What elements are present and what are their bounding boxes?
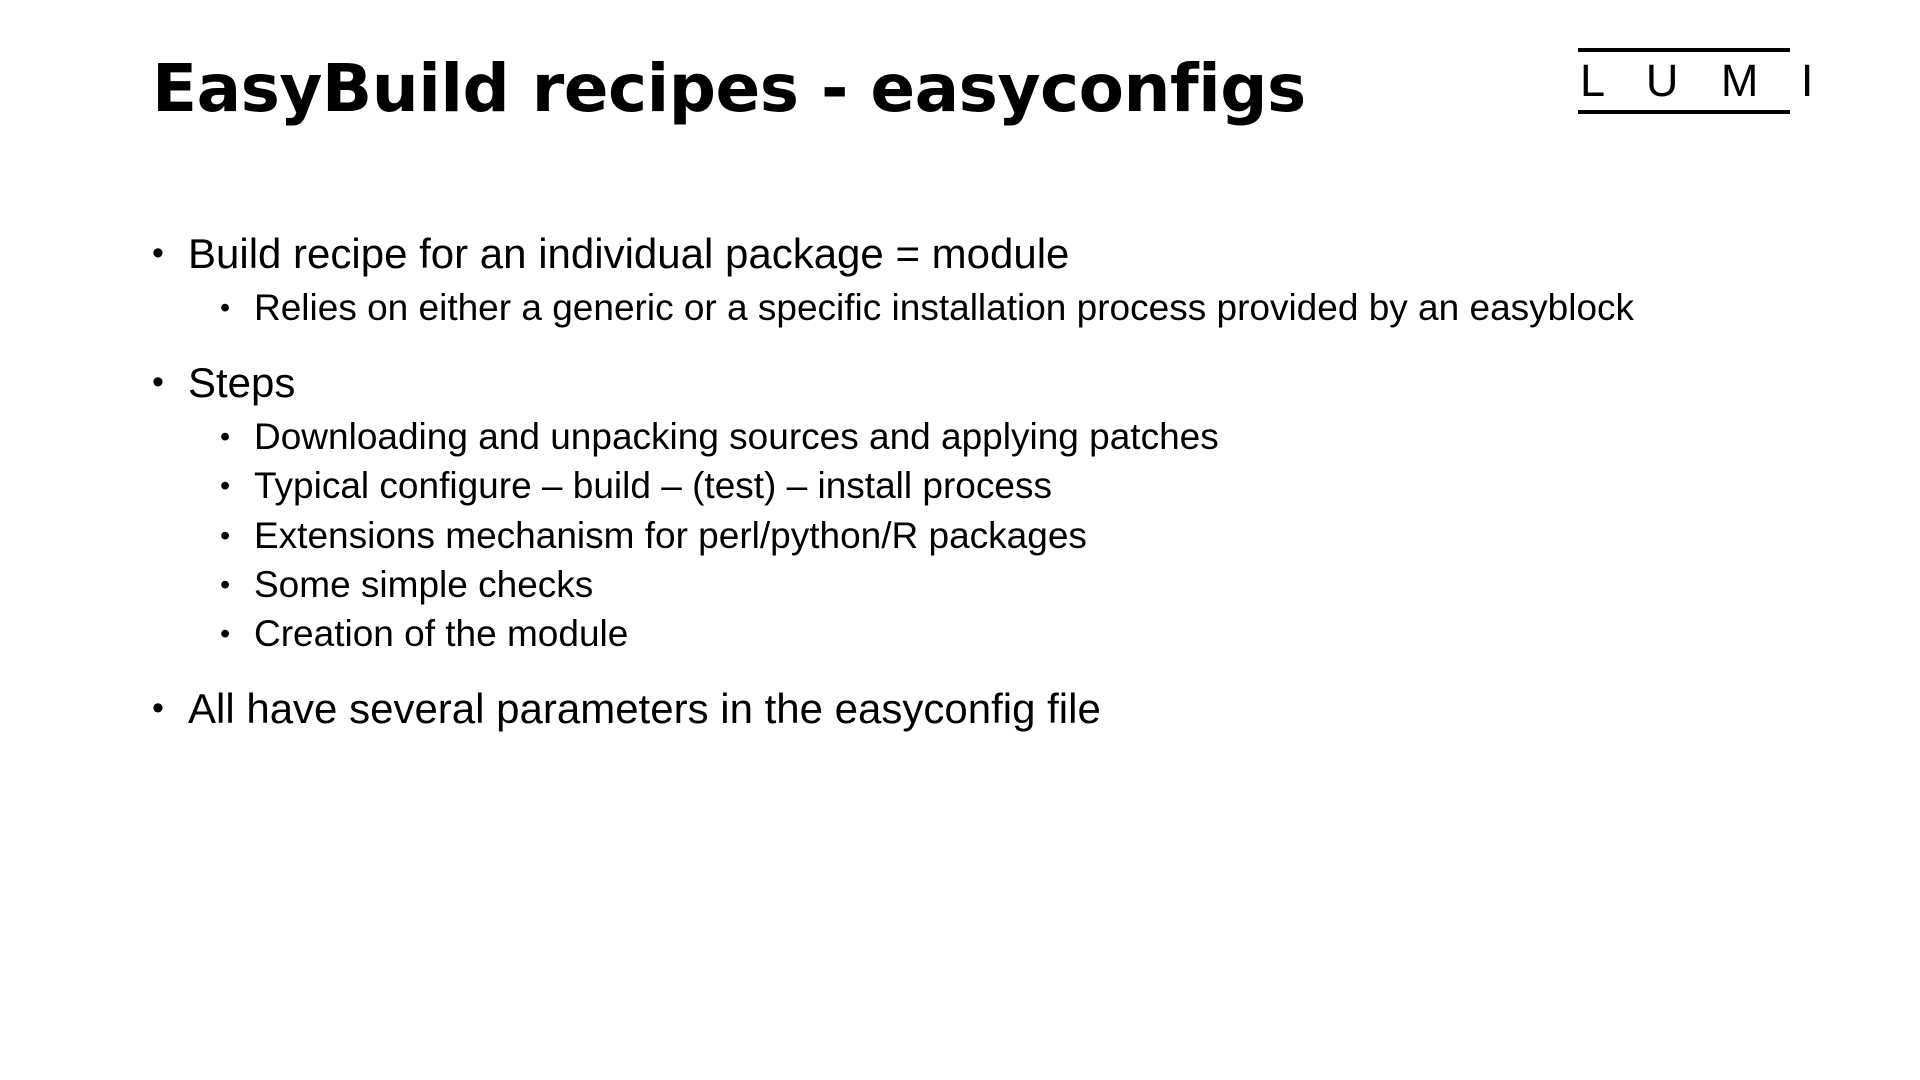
bullet-icon: • (152, 357, 188, 408)
slide-canvas: EasyBuild recipes - easyconfigs L U M I … (0, 0, 1920, 1080)
list-item: • Build recipe for an individual package… (152, 228, 1772, 279)
bullet-icon: • (220, 414, 254, 460)
bullet-icon: • (220, 562, 254, 608)
list-item-text: Typical configure – build – (test) – ins… (254, 463, 1754, 509)
bullet-icon: • (220, 285, 254, 331)
logo-rule-top (1578, 48, 1790, 52)
list-item: • Typical configure – build – (test) – i… (220, 463, 1772, 509)
list-item-text: All have several parameters in the easyc… (188, 683, 1748, 734)
list-item-text: Relies on either a generic or a specific… (254, 285, 1754, 331)
list-item: • Steps (152, 357, 1772, 408)
logo-rule-bottom (1578, 110, 1790, 114)
bullet-icon: • (152, 228, 188, 279)
bullet-icon: • (152, 683, 188, 734)
list-item-text: Downloading and unpacking sources and ap… (254, 414, 1754, 460)
bullet-icon: • (220, 513, 254, 559)
spacer (152, 335, 1772, 351)
lumi-logo: L U M I (1578, 45, 1790, 117)
bullet-list: • Build recipe for an individual package… (152, 222, 1772, 740)
list-item: • Some simple checks (220, 562, 1772, 608)
bullet-icon: • (220, 611, 254, 657)
spacer (152, 661, 1772, 677)
logo-wordmark: L U M I (1580, 55, 1780, 107)
list-item: • Creation of the module (220, 611, 1772, 657)
list-item: • Downloading and unpacking sources and … (220, 414, 1772, 460)
list-item-text: Creation of the module (254, 611, 1754, 657)
list-item-text: Extensions mechanism for perl/python/R p… (254, 513, 1754, 559)
list-item: • Extensions mechanism for perl/python/R… (220, 513, 1772, 559)
bullet-icon: • (220, 463, 254, 509)
list-item-text: Build recipe for an individual package =… (188, 228, 1748, 279)
list-item-text: Some simple checks (254, 562, 1754, 608)
list-item-text: Steps (188, 357, 1748, 408)
list-item: • All have several parameters in the eas… (152, 683, 1772, 734)
page-title: EasyBuild recipes - easyconfigs (152, 52, 1482, 126)
list-item: • Relies on either a generic or a specif… (220, 285, 1772, 331)
